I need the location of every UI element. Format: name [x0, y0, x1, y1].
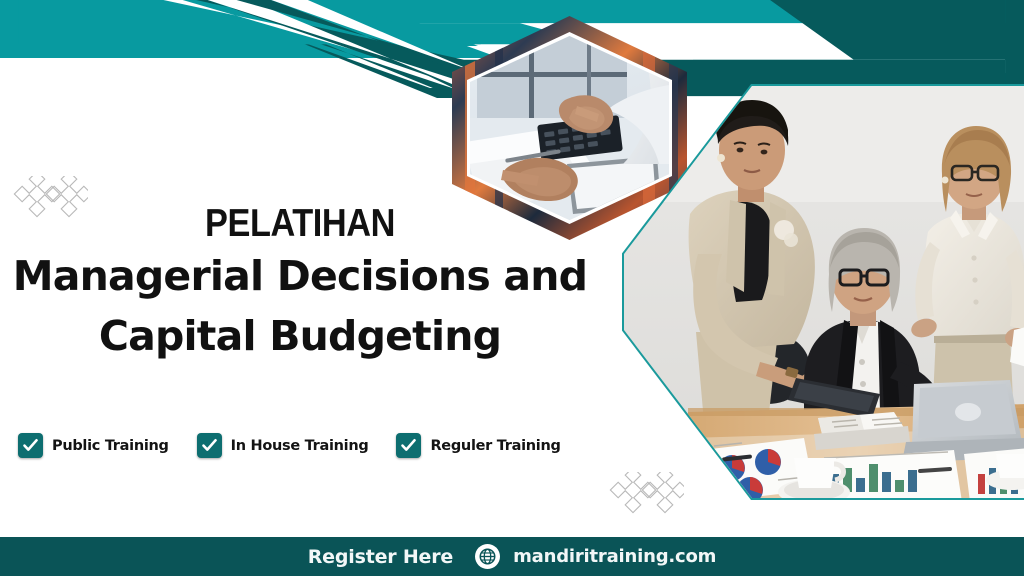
footer-bar: Register Here mandiritraining.com: [0, 537, 1024, 576]
website-group[interactable]: mandiritraining.com: [475, 544, 716, 569]
headline-block: PELATIHAN Managerial Decisions and Capit…: [0, 204, 600, 365]
band-light-2: [19, 0, 481, 44]
hexagon-photo-meeting: [618, 82, 1024, 502]
website-url[interactable]: mandiritraining.com: [513, 546, 716, 567]
checkbox-checked-icon[interactable]: [197, 433, 222, 458]
title-line-2: Capital Budgeting: [0, 304, 600, 365]
title-kicker: PELATIHAN: [36, 204, 564, 244]
option-label: Public Training: [52, 438, 169, 454]
title-line-1: Managerial Decisions and: [0, 244, 600, 305]
checkbox-checked-icon[interactable]: [396, 433, 421, 458]
promo-banner: PELATIHAN Managerial Decisions and Capit…: [0, 0, 1024, 576]
option-reguler-training[interactable]: Reguler Training: [396, 433, 560, 458]
checkbox-checked-icon[interactable]: [18, 433, 43, 458]
option-public-training[interactable]: Public Training: [18, 433, 169, 458]
option-label: In House Training: [231, 438, 369, 454]
globe-icon: [475, 544, 500, 569]
register-here-label[interactable]: Register Here: [308, 546, 453, 568]
chevron-light-left: [0, 0, 478, 46]
option-label: Reguler Training: [430, 438, 560, 454]
training-options: Public Training In House Training Regule…: [18, 433, 561, 458]
option-in-house-training[interactable]: In House Training: [197, 433, 369, 458]
